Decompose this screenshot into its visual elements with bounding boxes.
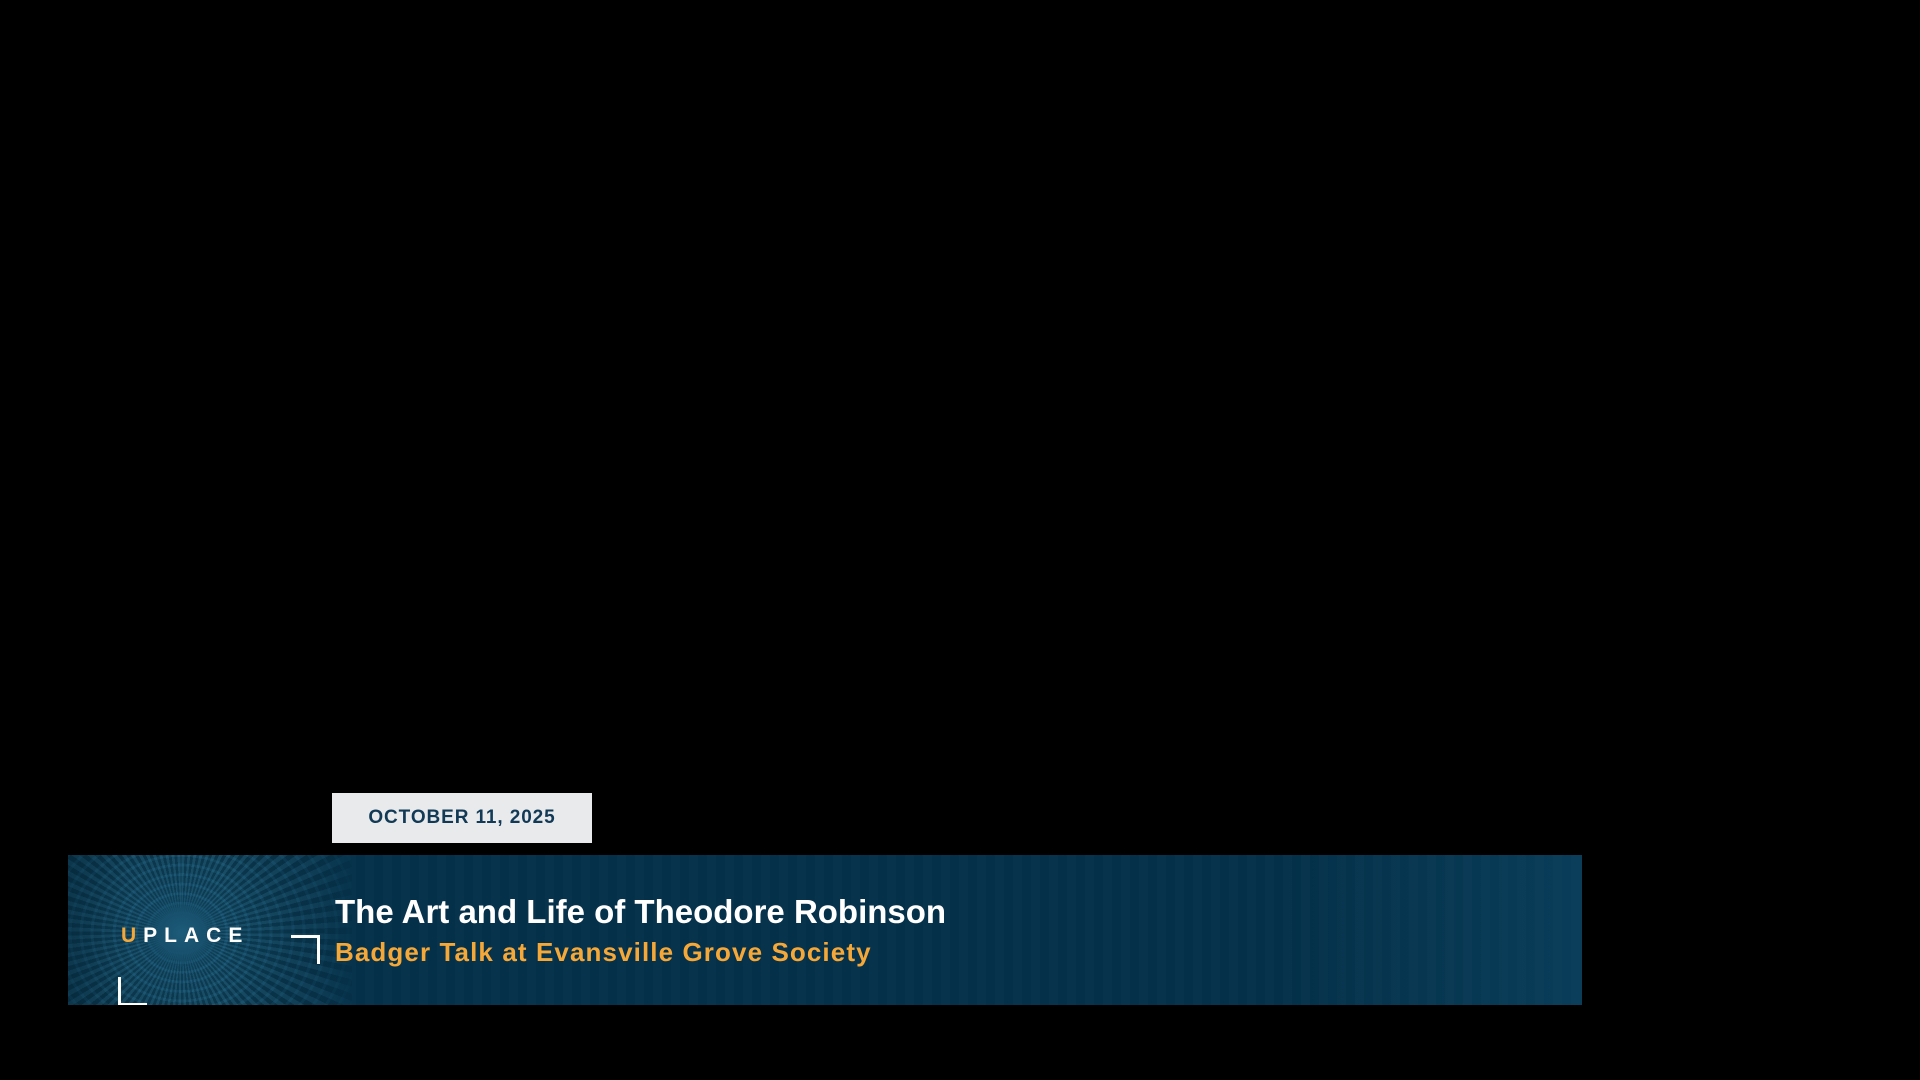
event-text-block: The Art and Life of Theodore Robinson Ba… — [335, 855, 946, 1005]
event-banner-stage: OCTOBER 11, 2025 UPLACE The Art and Life… — [0, 0, 1920, 1080]
banner-sheen-overlay — [1282, 855, 1582, 1005]
uplace-logo-tile[interactable]: UPLACE — [68, 855, 352, 1005]
uplace-wordmark-text: UPLACE — [121, 923, 249, 949]
wordmark-letter-u: U — [121, 924, 143, 947]
event-subtitle: Badger Talk at Evansville Grove Society — [335, 936, 946, 968]
corner-bracket-bottom-left-icon — [118, 977, 147, 1005]
uplace-wordmark: UPLACE — [94, 915, 294, 959]
event-date-label: OCTOBER 11, 2025 — [368, 807, 555, 829]
wordmark-letters-place: PLACE — [143, 924, 249, 947]
event-banner-card[interactable]: UPLACE The Art and Life of Theodore Robi… — [68, 855, 1582, 1005]
event-date-badge: OCTOBER 11, 2025 — [332, 793, 592, 843]
corner-bracket-top-right-icon — [291, 935, 320, 964]
event-title: The Art and Life of Theodore Robinson — [335, 892, 946, 932]
